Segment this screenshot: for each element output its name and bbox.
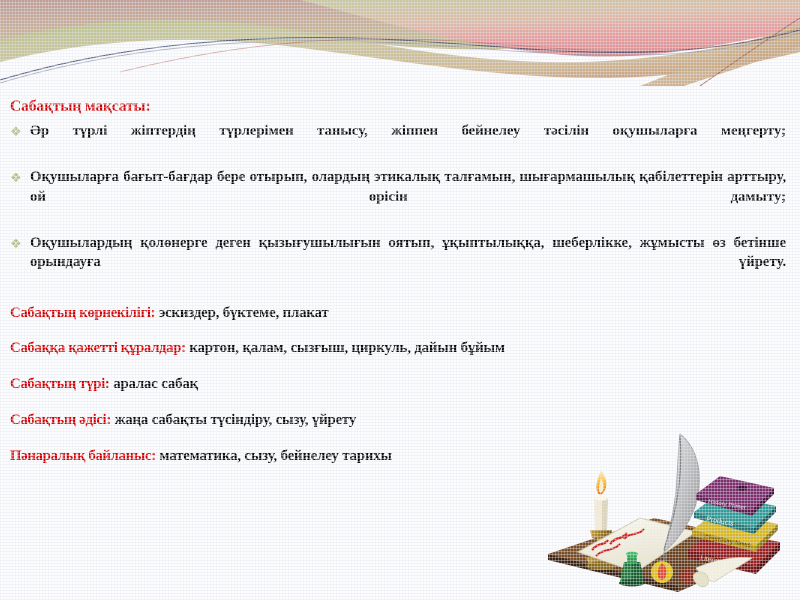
- list-item: ❖ Оқушыларға бағыт-бағдар бере отырып, о…: [0, 168, 800, 227]
- list-item: ❖ Оқушылардың қолөнерге деген қызығушылы…: [0, 234, 800, 293]
- list-item: ❖ Әр түрлі жіптердің түрлерімен танысу, …: [0, 122, 800, 161]
- info-row-label: Сабақтың әдісі:: [10, 412, 111, 428]
- lesson-aim-heading: Сабақтың мақсаты:: [0, 98, 800, 116]
- info-row-value: эскиздер, бүктеме, плакат: [159, 305, 329, 321]
- list-item-label: Оқушылардың қолөнерге деген қызығушылығы…: [30, 234, 786, 293]
- diamond-bullet-icon: ❖: [10, 234, 30, 252]
- study-desk-illustration: Literature Chemistry News Products Histo…: [528, 426, 790, 594]
- info-row-value: аралас сабақ: [113, 376, 198, 392]
- list-item-label: Оқушыларға бағыт-бағдар бере отырып, ола…: [30, 168, 786, 227]
- info-row-value: картон, қалам, сызғыш, циркуль, дайын бұ…: [189, 340, 504, 356]
- lesson-aim-list: ❖ Әр түрлі жіптердің түрлерімен танысу, …: [0, 122, 800, 292]
- info-row-visual-aids: Сабақтың көрнекілігі: эскиздер, бүктеме,…: [10, 305, 790, 323]
- info-row-value: математика, сызу, бейнелеу тарихы: [160, 448, 392, 464]
- presentation-slide: Сабақтың мақсаты: ❖ Әр түрлі жіптердің т…: [0, 0, 800, 600]
- info-row-label: Сабақтың көрнекілігі:: [10, 305, 155, 321]
- diamond-bullet-icon: ❖: [10, 168, 30, 186]
- list-item-label: Әр түрлі жіптердің түрлерімен танысу, жі…: [30, 122, 786, 161]
- header-swoosh-decoration: [0, 0, 800, 86]
- info-row-value: жаңа сабақты түсіндіру, сызу, үйрету: [115, 412, 356, 428]
- info-row-label: Пәнаралық байланыс:: [10, 448, 156, 464]
- info-row-label: Сабақтың түрі:: [10, 376, 110, 392]
- info-row-label: Сабаққа қажетті құралдар:: [10, 340, 186, 356]
- info-row-lesson-type: Сабақтың түрі: аралас сабақ: [10, 376, 790, 394]
- diamond-bullet-icon: ❖: [10, 122, 30, 140]
- info-row-required-tools: Сабаққа қажетті құралдар: картон, қалам,…: [10, 340, 790, 358]
